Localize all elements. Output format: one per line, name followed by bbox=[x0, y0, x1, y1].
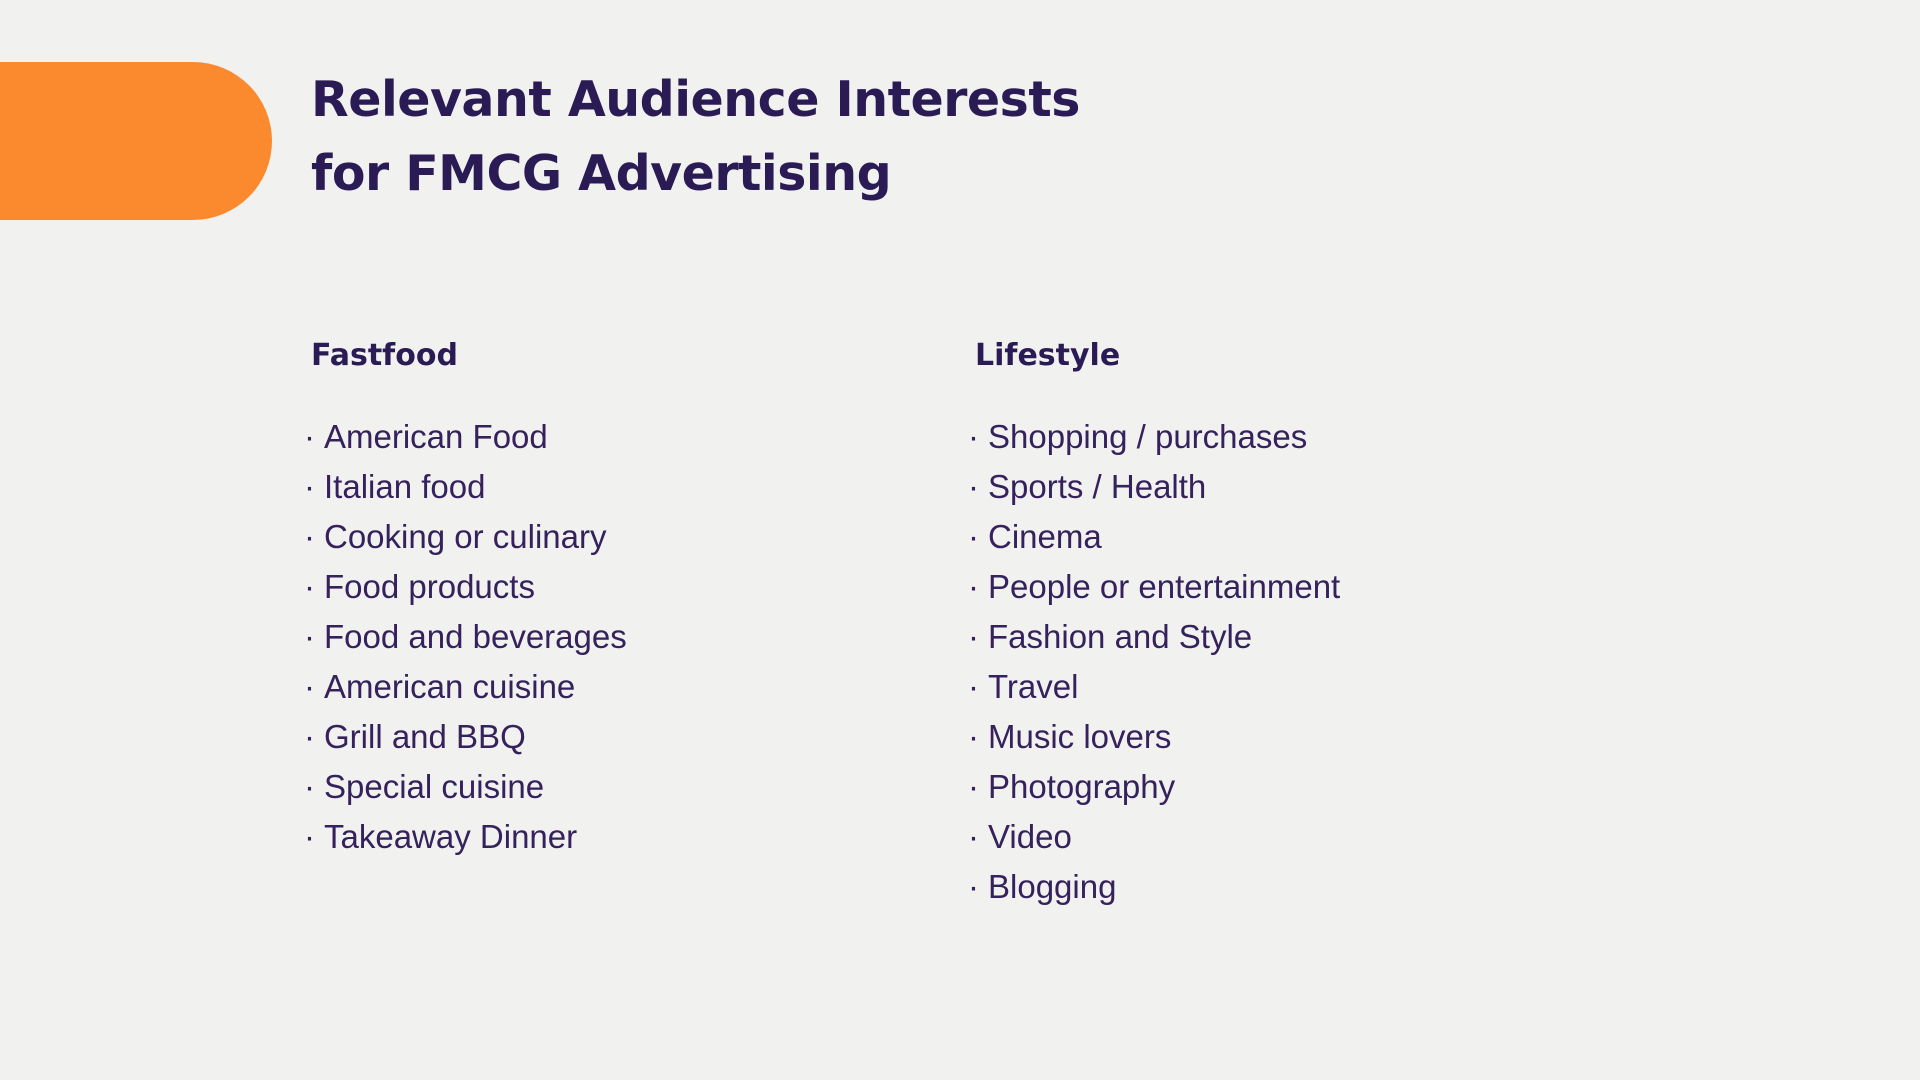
list-item: · Video bbox=[975, 812, 1675, 862]
list-item: · Travel bbox=[975, 662, 1675, 712]
bullet-icon: · bbox=[968, 862, 988, 912]
list-item: · Music lovers bbox=[975, 712, 1675, 762]
list-item-label: People or entertainment bbox=[988, 562, 1340, 612]
list-item: · Cinema bbox=[975, 512, 1675, 562]
bullet-icon: · bbox=[304, 512, 324, 562]
bullet-icon: · bbox=[968, 612, 988, 662]
bullet-icon: · bbox=[304, 762, 324, 812]
list-item: · Sports / Health bbox=[975, 462, 1675, 512]
interest-columns: Fastfood · American Food · Italian food … bbox=[311, 338, 1711, 912]
bullet-icon: · bbox=[968, 462, 988, 512]
column-heading-lifestyle: Lifestyle bbox=[975, 338, 1675, 374]
page-title: Relevant Audience Interests for FMCG Adv… bbox=[311, 63, 1411, 211]
list-item: · Food and beverages bbox=[311, 612, 975, 662]
list-item: · Italian food bbox=[311, 462, 975, 512]
list-item-label: Grill and BBQ bbox=[324, 712, 526, 762]
list-item-label: Fashion and Style bbox=[988, 612, 1252, 662]
column-fastfood: Fastfood · American Food · Italian food … bbox=[311, 338, 975, 912]
bullet-icon: · bbox=[968, 412, 988, 462]
bullet-icon: · bbox=[304, 412, 324, 462]
list-item: · Food products bbox=[311, 562, 975, 612]
list-item: · American cuisine bbox=[311, 662, 975, 712]
list-item-label: Video bbox=[988, 812, 1072, 862]
page-title-line-1: Relevant Audience Interests bbox=[311, 63, 1411, 137]
bullet-icon: · bbox=[968, 662, 988, 712]
bullet-icon: · bbox=[968, 812, 988, 862]
list-item: · Blogging bbox=[975, 862, 1675, 912]
list-item-label: American cuisine bbox=[324, 662, 575, 712]
bullet-icon: · bbox=[968, 712, 988, 762]
bullet-icon: · bbox=[968, 562, 988, 612]
bullet-icon: · bbox=[304, 612, 324, 662]
list-item-label: Music lovers bbox=[988, 712, 1171, 762]
bullet-icon: · bbox=[968, 762, 988, 812]
list-item: · Special cuisine bbox=[311, 762, 975, 812]
list-item: · Photography bbox=[975, 762, 1675, 812]
list-item-label: Italian food bbox=[324, 462, 485, 512]
list-item: · American Food bbox=[311, 412, 975, 462]
column-lifestyle: Lifestyle · Shopping / purchases · Sport… bbox=[975, 338, 1675, 912]
list-item: · Takeaway Dinner bbox=[311, 812, 975, 862]
bullet-icon: · bbox=[304, 462, 324, 512]
list-item: · Shopping / purchases bbox=[975, 412, 1675, 462]
interest-list-fastfood: · American Food · Italian food · Cooking… bbox=[311, 412, 975, 862]
bullet-icon: · bbox=[304, 712, 324, 762]
interest-list-lifestyle: · Shopping / purchases · Sports / Health… bbox=[975, 412, 1675, 912]
list-item: · People or entertainment bbox=[975, 562, 1675, 612]
list-item-label: Blogging bbox=[988, 862, 1116, 912]
list-item-label: Sports / Health bbox=[988, 462, 1206, 512]
list-item-label: Photography bbox=[988, 762, 1175, 812]
orange-pill-decoration bbox=[0, 62, 272, 220]
list-item-label: Food and beverages bbox=[324, 612, 627, 662]
list-item: · Cooking or culinary bbox=[311, 512, 975, 562]
list-item-label: Takeaway Dinner bbox=[324, 812, 577, 862]
list-item: · Grill and BBQ bbox=[311, 712, 975, 762]
list-item-label: Cinema bbox=[988, 512, 1102, 562]
list-item-label: American Food bbox=[324, 412, 548, 462]
bullet-icon: · bbox=[304, 662, 324, 712]
page-title-line-2: for FMCG Advertising bbox=[311, 137, 1411, 211]
list-item-label: Shopping / purchases bbox=[988, 412, 1307, 462]
column-heading-fastfood: Fastfood bbox=[311, 338, 975, 374]
bullet-icon: · bbox=[304, 812, 324, 862]
bullet-icon: · bbox=[304, 562, 324, 612]
list-item-label: Special cuisine bbox=[324, 762, 544, 812]
list-item-label: Cooking or culinary bbox=[324, 512, 606, 562]
list-item-label: Travel bbox=[988, 662, 1078, 712]
bullet-icon: · bbox=[968, 512, 988, 562]
list-item-label: Food products bbox=[324, 562, 535, 612]
list-item: · Fashion and Style bbox=[975, 612, 1675, 662]
slide-root: Relevant Audience Interests for FMCG Adv… bbox=[0, 0, 1920, 1080]
